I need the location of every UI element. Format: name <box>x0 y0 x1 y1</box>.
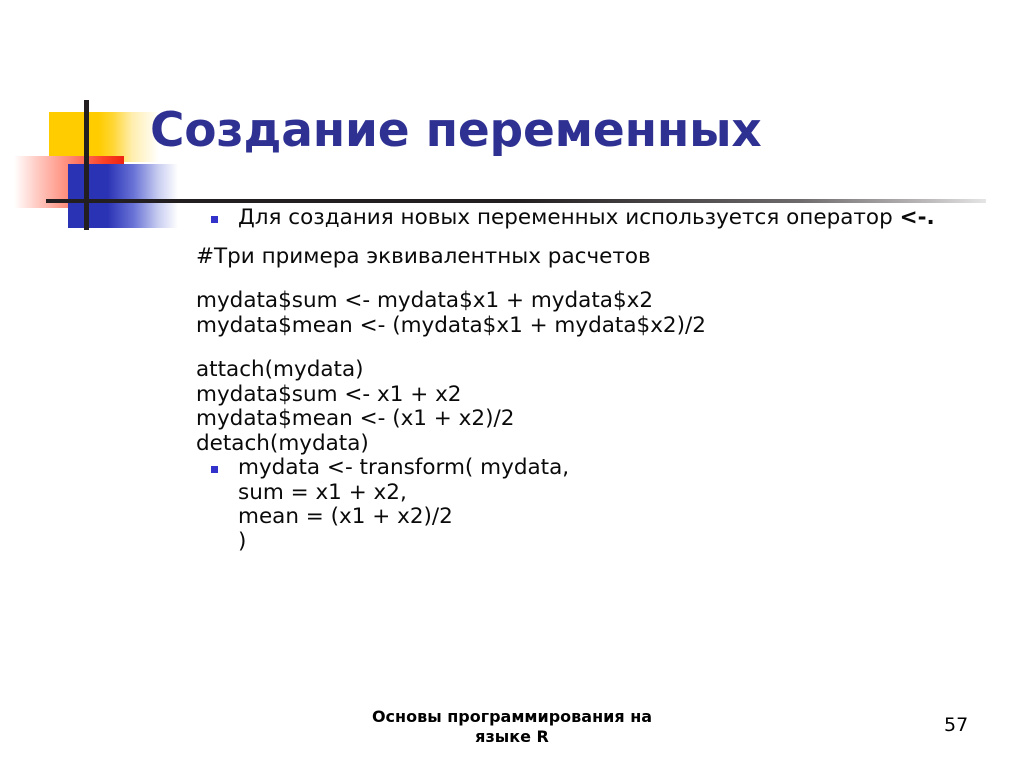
title-underline-rule <box>46 199 986 203</box>
code-block-dollar-notation: mydata$sum <- mydata$x1 + mydata$x2 myda… <box>196 289 986 338</box>
bullet-item-operator: Для создания новых переменных использует… <box>196 206 986 231</box>
footer-line-1: Основы программирования на <box>282 707 742 727</box>
deco-yellow-square <box>49 112 159 162</box>
bullet-operator-period: . <box>927 205 935 230</box>
spacer-2 <box>196 269 986 289</box>
deco-vertical-bar <box>84 100 89 230</box>
slide-canvas: Создание переменных Для создания новых п… <box>0 0 1024 768</box>
slide-body: Для создания новых переменных использует… <box>196 206 986 554</box>
bullet-item-transform: mydata <- transform( mydata, sum = x1 + … <box>196 456 986 554</box>
slide-number: 57 <box>944 714 994 736</box>
footer-course-title: Основы программирования на языке R <box>282 707 742 747</box>
bullet-operator-lead: Для создания новых переменных использует… <box>238 205 900 230</box>
square-bullet-icon <box>211 216 218 223</box>
square-bullet-icon <box>211 466 218 473</box>
comment-line-three-examples: #Три примера эквивалентных расчетов <box>196 245 986 270</box>
bullet-item-operator-text: Для создания новых переменных использует… <box>238 206 986 231</box>
spacer-3 <box>196 338 986 358</box>
page-title: Создание переменных <box>150 106 990 155</box>
footer-line-2: языке R <box>282 727 742 747</box>
spacer-1 <box>196 231 986 245</box>
bullet-operator-code: <- <box>900 205 927 230</box>
code-block-attach-notation: attach(mydata) mydata$sum <- x1 + x2 myd… <box>196 358 986 456</box>
code-block-transform: mydata <- transform( mydata, sum = x1 + … <box>238 456 986 554</box>
